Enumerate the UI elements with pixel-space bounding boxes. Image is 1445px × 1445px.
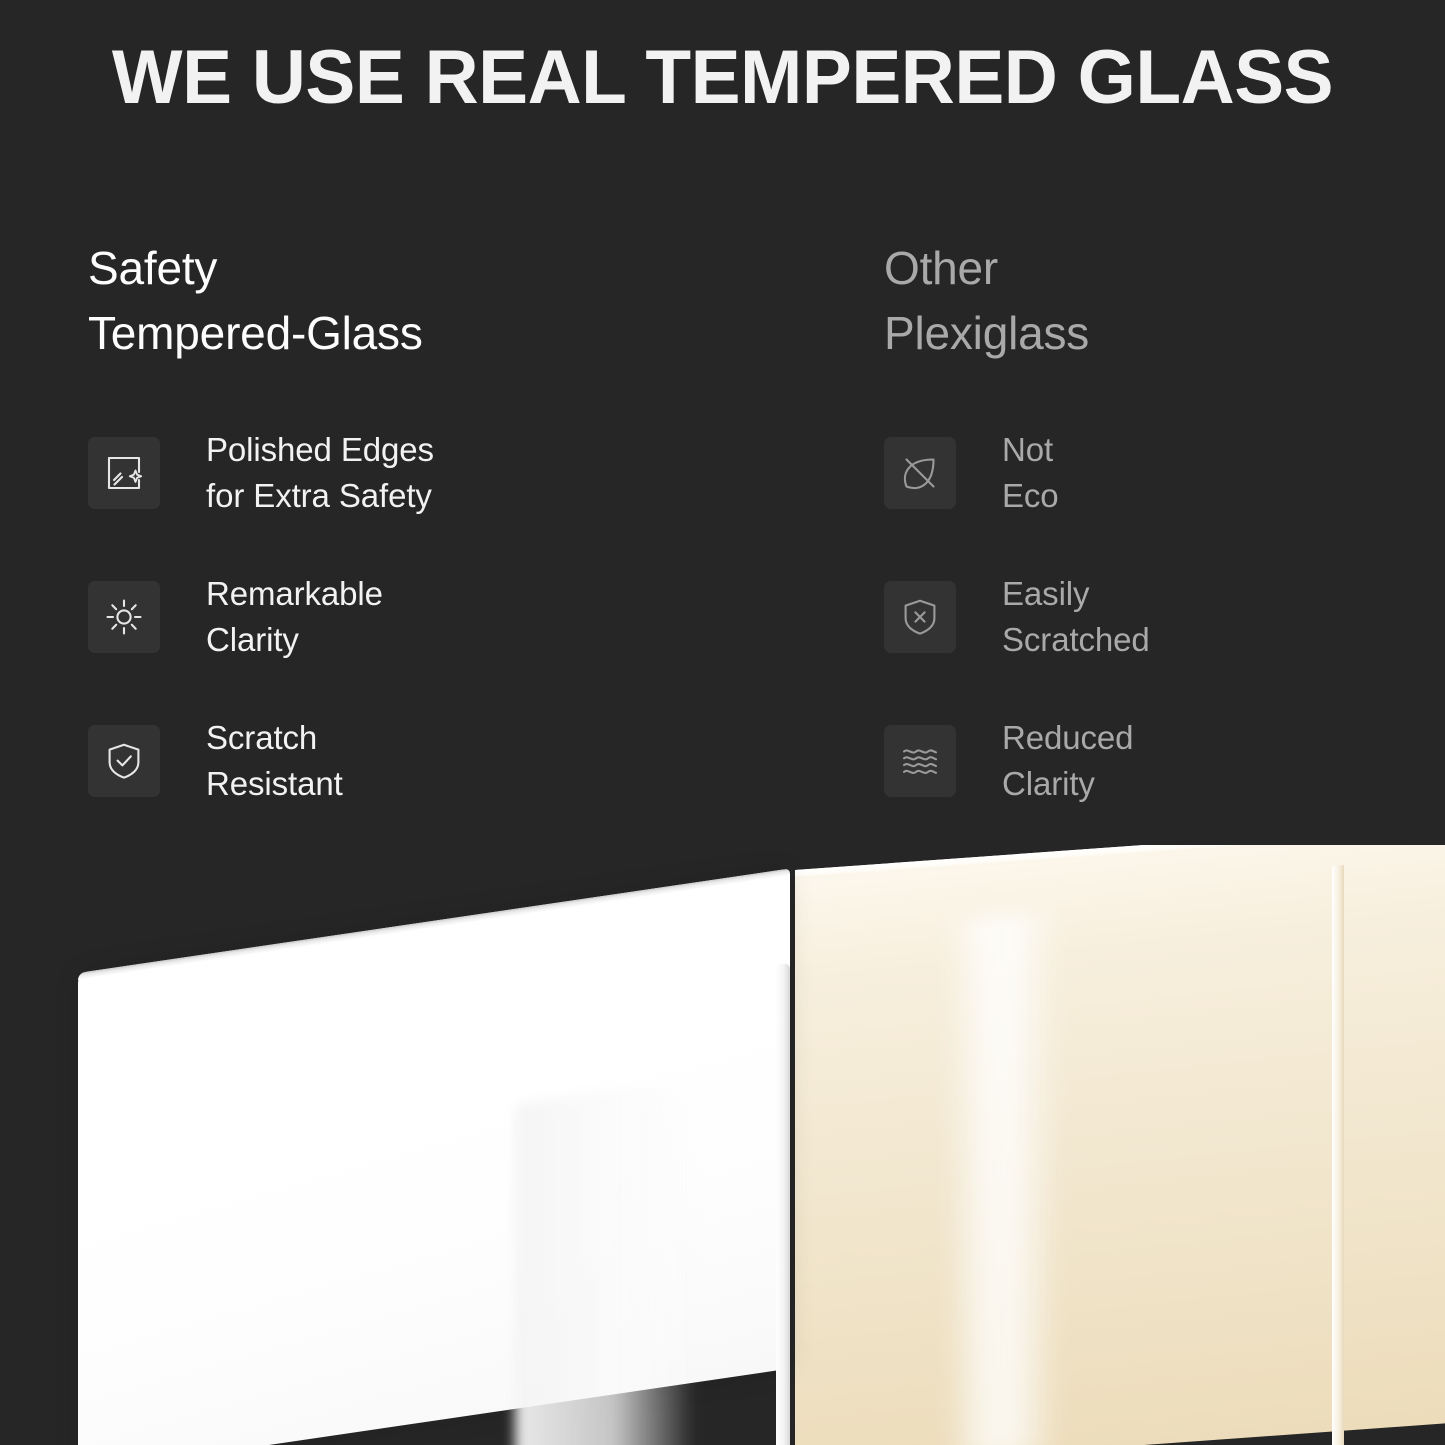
- product-photo: [0, 845, 1445, 1445]
- feature-not-eco: Not Eco: [884, 437, 1444, 509]
- feature-scratch-resistant: Scratch Resistant: [88, 725, 828, 797]
- feature-label-easily-scratched: Easily Scratched: [1002, 571, 1150, 662]
- feature-label-scratch-resistant: Scratch Resistant: [206, 715, 343, 806]
- feature-list-plexiglass: Not Eco Easily Scratched: [884, 437, 1444, 797]
- column-title-plexiglass: Other Plexiglass: [884, 236, 1444, 367]
- plexiglass-panel: [795, 845, 1445, 1445]
- shield-check-icon: [88, 725, 160, 797]
- feature-polished-edges: Polished Edges for Extra Safety: [88, 437, 828, 509]
- polished-edge-sparkle-icon: [88, 437, 160, 509]
- feature-label-reduced-clarity: Reduced Clarity: [1002, 715, 1133, 806]
- tempered-glass-reflection: [515, 1079, 695, 1445]
- wavy-lines-icon: [884, 725, 956, 797]
- plexiglass-panel-side-edge: [1332, 865, 1344, 1445]
- column-plexiglass: Other Plexiglass Not Eco: [884, 236, 1444, 797]
- leaf-slash-icon: [884, 437, 956, 509]
- tempered-glass-panel-side-edge: [776, 963, 790, 1445]
- feature-reduced-clarity: Reduced Clarity: [884, 725, 1444, 797]
- column-tempered-glass: Safety Tempered-Glass Polished Edges for…: [88, 236, 828, 797]
- poster-canvas: WE USE REAL TEMPERED GLASS Safety Temper…: [0, 0, 1445, 1445]
- feature-label-polished-edges: Polished Edges for Extra Safety: [206, 427, 434, 518]
- feature-remarkable-clarity: Remarkable Clarity: [88, 581, 828, 653]
- shield-x-icon: [884, 581, 956, 653]
- sun-clarity-icon: [88, 581, 160, 653]
- feature-label-remarkable-clarity: Remarkable Clarity: [206, 571, 383, 662]
- feature-easily-scratched: Easily Scratched: [884, 581, 1444, 653]
- page-title: WE USE REAL TEMPERED GLASS: [11, 38, 1434, 118]
- feature-label-not-eco: Not Eco: [1002, 427, 1059, 518]
- feature-list-tempered-glass: Polished Edges for Extra Safety Remarkab…: [88, 437, 828, 797]
- column-title-tempered-glass: Safety Tempered-Glass: [88, 236, 828, 367]
